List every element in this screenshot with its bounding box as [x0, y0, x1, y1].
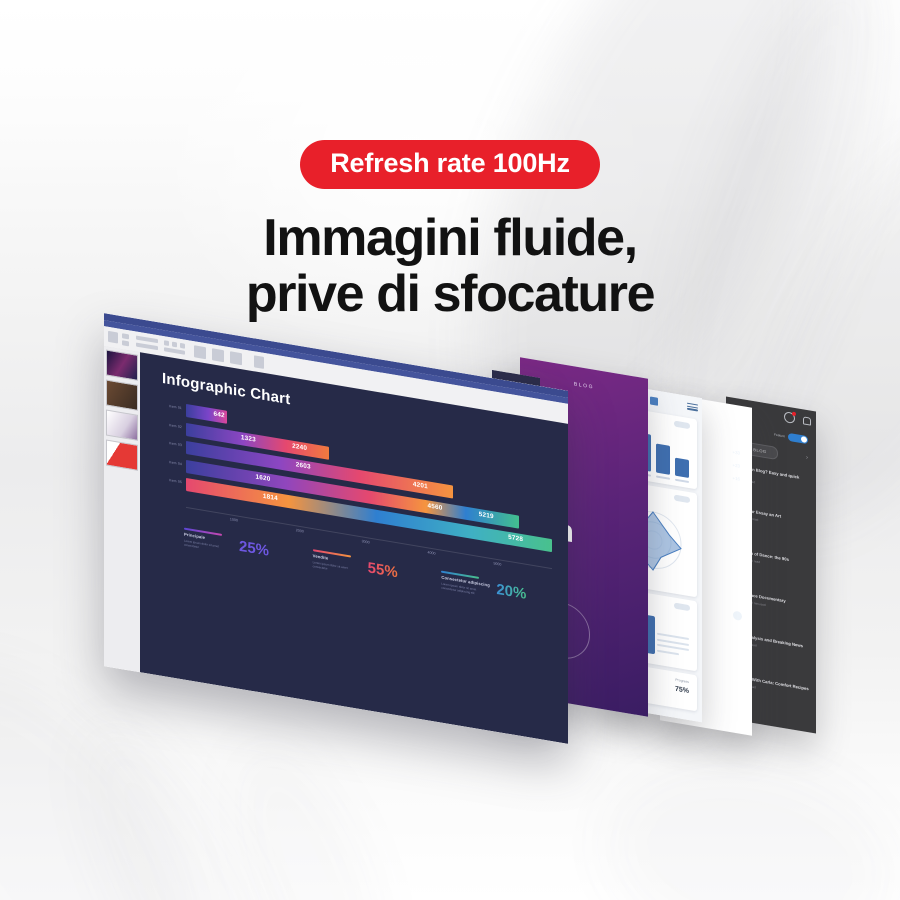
font-name-box[interactable] [136, 336, 158, 344]
x-tick-label: 4000 [428, 550, 436, 555]
bell-icon[interactable] [802, 415, 810, 425]
x-tick-label: 5000 [493, 561, 501, 566]
bar-category-label: Item 01 [154, 402, 182, 411]
promo-graphic: Refresh rate 100Hz Immagini fluide, priv… [0, 0, 900, 900]
legend-percent: 25% [239, 539, 269, 559]
card-filter-pill[interactable] [674, 603, 690, 612]
slide-thumbnail-panel[interactable] [104, 346, 140, 672]
x-tick-label: 1000 [230, 517, 238, 522]
legend-percent: 20% [496, 582, 526, 602]
feature-toggle[interactable] [788, 433, 808, 444]
quickstyles-icon[interactable] [230, 351, 242, 365]
grid-icon[interactable] [650, 396, 658, 405]
x-tick-label: 2000 [296, 528, 304, 533]
slide-thumbnail[interactable] [106, 440, 138, 471]
slide-thumbnail[interactable] [106, 410, 138, 441]
avatar [733, 611, 742, 622]
progress-caption: Progress [675, 678, 689, 684]
headline-line-1: Immagini fluide, [263, 209, 636, 267]
nav-item-blog[interactable]: BLOG [574, 381, 594, 390]
underline-icon[interactable] [180, 343, 185, 349]
legend-percent: 55% [368, 560, 398, 580]
screen-stack: Feature BLOG › Writing on Blog? Easy and… [0, 0, 900, 900]
slide-thumbnail[interactable] [106, 380, 138, 411]
hero-text-block: Refresh rate 100Hz Immagini fluide, priv… [0, 140, 900, 322]
find-icon[interactable] [254, 355, 264, 369]
menu-icon[interactable] [687, 402, 698, 413]
page-title: Immagini fluide, prive di sfocature [0, 211, 900, 322]
progress-value: 75% [675, 686, 689, 695]
cut-icon[interactable] [122, 333, 129, 339]
legend-list [657, 633, 689, 660]
headline-line-2: prive di sfocature [0, 267, 900, 323]
bar-category-label: Item 05 [154, 476, 182, 485]
copy-icon[interactable] [122, 340, 129, 346]
font-size-box[interactable] [136, 343, 158, 351]
chart-title: Infographic Chart [162, 370, 290, 408]
bar-category-label: Item 03 [154, 439, 182, 448]
bar-category-label: Item 04 [154, 457, 182, 466]
article-stat: +33 [733, 449, 740, 455]
article-stat: +23 [733, 462, 740, 468]
slide-thumbnail[interactable] [106, 350, 138, 381]
blog-topbar [784, 411, 810, 426]
shapes-icon[interactable] [194, 345, 206, 359]
italic-icon[interactable] [172, 342, 177, 348]
card-filter-pill[interactable] [674, 421, 690, 430]
bold-icon[interactable] [164, 340, 169, 346]
x-tick-label: 3000 [362, 539, 370, 544]
arrange-icon[interactable] [212, 348, 224, 362]
chevron-right-icon[interactable]: › [806, 455, 808, 461]
blog-toggle-label: Feature [774, 433, 785, 439]
refresh-rate-badge: Refresh rate 100Hz [300, 140, 600, 189]
notification-dot [792, 412, 796, 417]
bar-category-label: Item 02 [154, 420, 182, 429]
paste-icon[interactable] [108, 331, 118, 344]
card-filter-pill[interactable] [674, 495, 690, 504]
article-stat: +16 [733, 475, 740, 481]
message-icon[interactable] [784, 411, 795, 424]
